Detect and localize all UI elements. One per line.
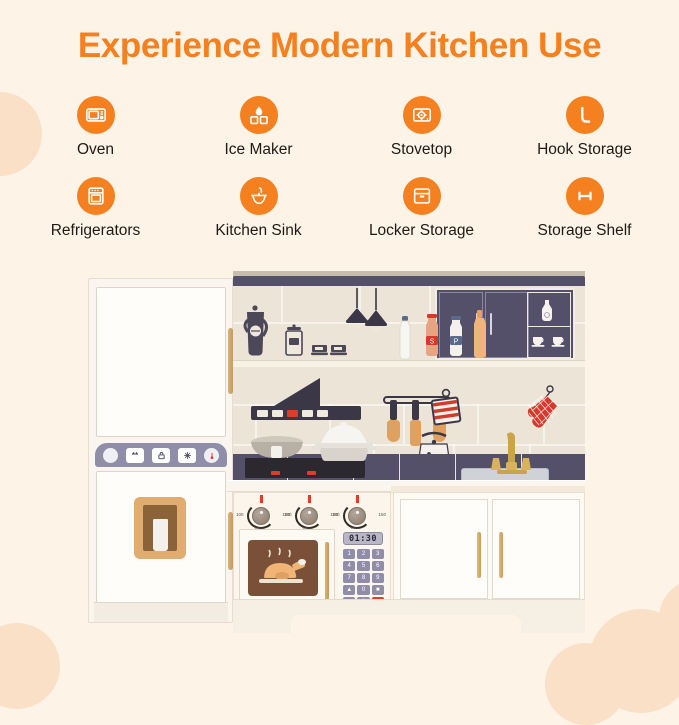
- feature-stovetop: Stovetop: [340, 96, 503, 159]
- burner-icon: [403, 96, 441, 134]
- microwave-oven-icon: [77, 96, 115, 134]
- key-9[interactable]: 9: [372, 573, 384, 583]
- feature-label: Refrigerators: [51, 222, 141, 240]
- vase: [539, 298, 555, 327]
- key-up-arrow[interactable]: ▲: [343, 585, 355, 595]
- knob-label-max: 150: [378, 512, 386, 517]
- faucet[interactable]: [485, 428, 531, 472]
- oven-handle[interactable]: [325, 542, 329, 604]
- upper-shelf: [233, 360, 585, 367]
- feature-kitchen-sink: Kitchen Sink: [177, 177, 340, 240]
- oven-display: 01:30: [343, 532, 383, 545]
- key-stop[interactable]: ■: [372, 585, 384, 595]
- hood-control-bar[interactable]: [251, 406, 361, 420]
- feature-label: Hook Storage: [537, 141, 632, 159]
- teacup: [551, 334, 567, 353]
- cabinet-handle[interactable]: [477, 532, 481, 578]
- range-icon: [77, 177, 115, 215]
- oil-bottle: [471, 310, 489, 365]
- lock-icon[interactable]: [152, 448, 170, 463]
- oven-window: [248, 540, 318, 596]
- water-ice-dispenser[interactable]: [134, 497, 186, 559]
- key-8[interactable]: 8: [357, 573, 369, 583]
- key-6[interactable]: 6: [372, 561, 384, 571]
- key-3[interactable]: 3: [372, 549, 384, 559]
- hood-button-high[interactable]: [287, 410, 298, 417]
- key-0[interactable]: 0: [357, 585, 369, 595]
- frying-pan: [247, 434, 303, 462]
- light-button[interactable]: [103, 448, 118, 463]
- dispenser-cup: [153, 519, 168, 551]
- ice-cubes-icon: [240, 96, 278, 134]
- feature-storage-shelf: Storage Shelf: [503, 177, 666, 240]
- upper-cabinet-door-right[interactable]: [485, 292, 529, 358]
- hood-button-off[interactable]: [257, 410, 268, 417]
- lower-cabinet-door-left[interactable]: [400, 499, 488, 599]
- salt-shaker: S: [423, 314, 441, 363]
- feature-oven: Oven: [14, 96, 177, 159]
- knob-tick: [308, 495, 311, 503]
- key-5[interactable]: 5: [357, 561, 369, 571]
- knob-label-min: 100: [284, 512, 292, 517]
- burner-indicator: [307, 471, 316, 475]
- shelf-bar-icon: [566, 177, 604, 215]
- feature-label: Ice Maker: [224, 141, 292, 159]
- feature-refrigerators: Refrigerators: [14, 177, 177, 240]
- product-illustration: **: [0, 268, 679, 658]
- knob-body[interactable]: [300, 507, 318, 525]
- knob-tick: [356, 495, 359, 503]
- striped-pot-holder: [429, 388, 459, 422]
- sugar-jar: [283, 324, 303, 356]
- feature-label: Storage Shelf: [538, 222, 632, 240]
- unit-base-notch: [291, 615, 521, 633]
- sink-faucet-icon: [240, 177, 278, 215]
- thermometer-icon[interactable]: [204, 448, 219, 463]
- hood-button-boost[interactable]: [302, 410, 313, 417]
- knob-label-min: 100: [332, 512, 340, 517]
- storage-box-icon: [403, 177, 441, 215]
- svg-text:P: P: [454, 339, 459, 346]
- page-title: Experience Modern Kitchen Use: [0, 26, 679, 66]
- feature-label: Locker Storage: [369, 222, 474, 240]
- knob-body[interactable]: [252, 507, 270, 525]
- checkered-oven-mitt: [523, 384, 559, 428]
- feature-label: Stovetop: [391, 141, 452, 159]
- oven-knob-3[interactable]: 100 150 200: [334, 501, 380, 527]
- knob-tick: [260, 495, 263, 503]
- fridge-upper-door[interactable]: [96, 287, 226, 437]
- fridge-base: [94, 602, 228, 622]
- key-1[interactable]: 1: [343, 549, 355, 559]
- double-snowflake-button[interactable]: **: [126, 448, 144, 463]
- feature-hook-storage: Hook Storage: [503, 96, 666, 159]
- oven-knob-2[interactable]: 100 150 200: [286, 501, 332, 527]
- teacup: [531, 334, 547, 353]
- key-4[interactable]: 4: [343, 561, 355, 571]
- feature-ice-maker: Ice Maker: [177, 96, 340, 159]
- wooden-spoon: [387, 400, 400, 442]
- hood-button-light[interactable]: [317, 410, 328, 417]
- feature-grid: Oven Ice Maker Stovetop: [14, 96, 666, 240]
- burner-indicator: [271, 471, 280, 475]
- oven-knob-1[interactable]: 100 150 200: [238, 501, 284, 527]
- hook-l-icon: [566, 96, 604, 134]
- milk-bottle: [397, 316, 411, 356]
- pepper-shaker: P: [447, 316, 465, 363]
- covered-pot: [311, 422, 373, 462]
- fridge-control-panel[interactable]: **: [95, 443, 227, 467]
- key-2[interactable]: 2: [357, 549, 369, 559]
- cabinet-handle[interactable]: [499, 532, 503, 578]
- feature-label: Oven: [77, 141, 114, 159]
- pendant-lamp: [343, 288, 371, 339]
- snowflake-icon[interactable]: [178, 448, 196, 463]
- refrigerator-unit: **: [88, 278, 233, 623]
- range-hood: [268, 378, 328, 406]
- feature-label: Kitchen Sink: [215, 222, 301, 240]
- roast-turkey-graphic: [252, 545, 314, 591]
- knob-body[interactable]: [348, 507, 366, 525]
- kitchen-main-unit: S P: [233, 268, 585, 623]
- lower-cabinet-door-right[interactable]: [492, 499, 580, 599]
- key-7[interactable]: 7: [343, 573, 355, 583]
- knob-label-min: 100: [236, 512, 244, 517]
- dispenser-recess: [143, 505, 177, 551]
- svg-text:S: S: [430, 339, 435, 346]
- feature-locker-storage: Locker Storage: [340, 177, 503, 240]
- cabinet-handle[interactable]: [490, 313, 492, 335]
- two-cups-and-saucers: [311, 340, 345, 356]
- fridge-lower-door[interactable]: [96, 471, 226, 606]
- coffee-pot: [241, 304, 267, 356]
- hood-button-low[interactable]: [272, 410, 283, 417]
